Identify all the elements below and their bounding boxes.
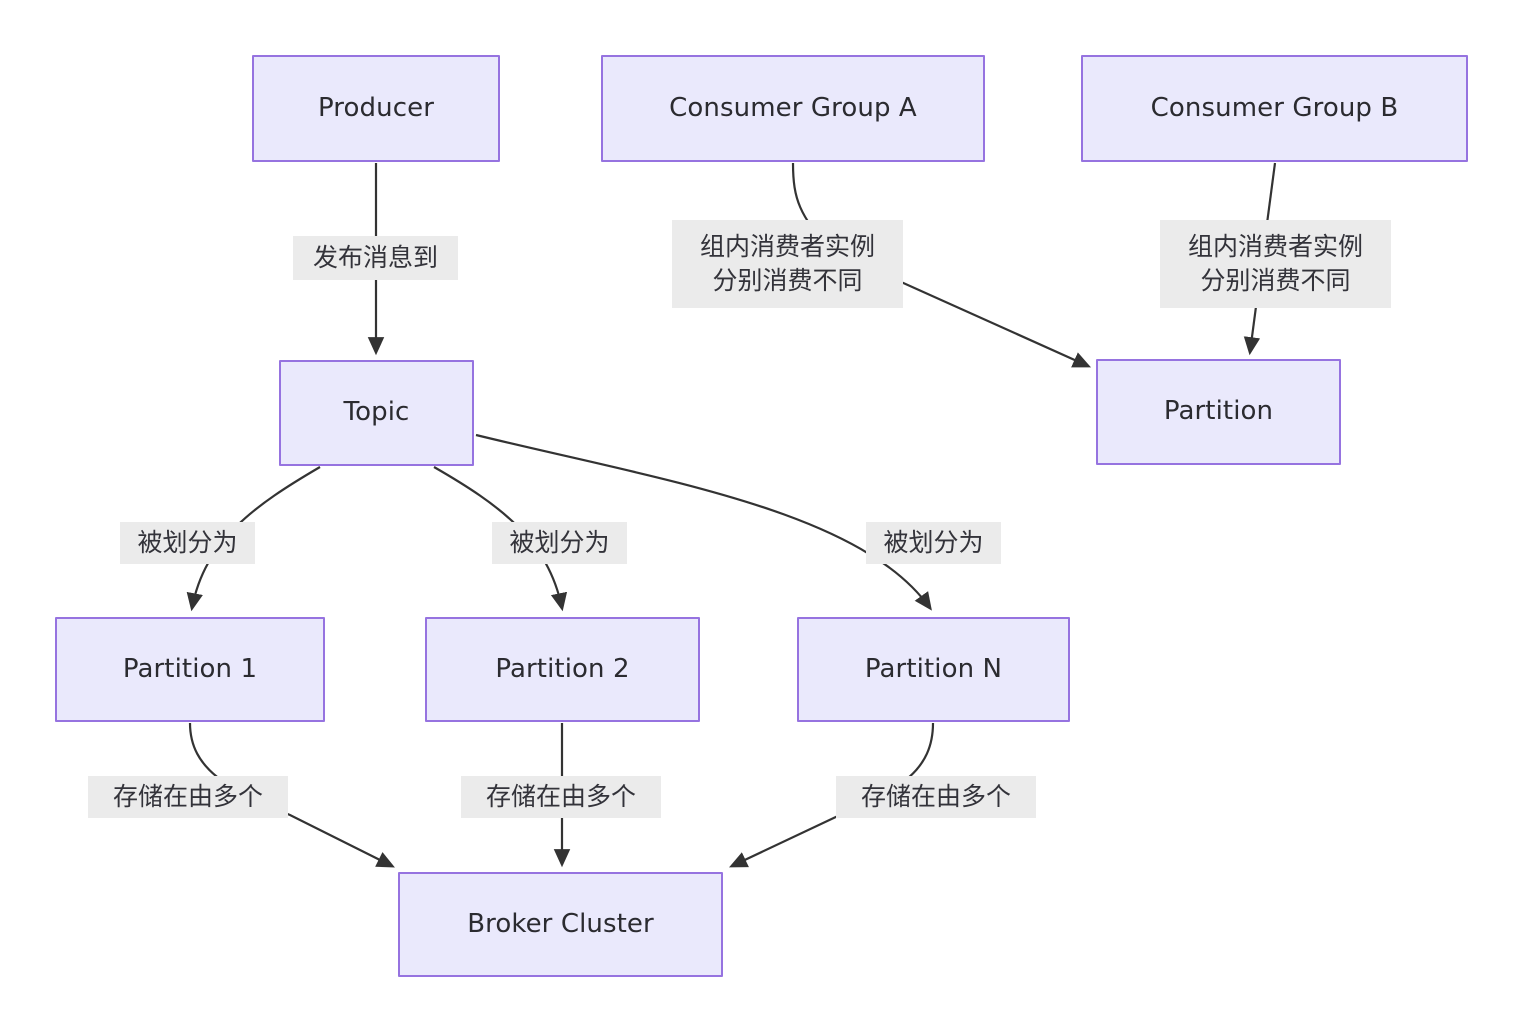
node-consumer-group-a-label: Consumer Group A (665, 93, 921, 124)
edge-label-stored-on-3-text: 存储在由多个 (861, 780, 1011, 814)
edge-label-group-a-consume-line1: 组内消费者实例 (700, 230, 875, 264)
node-consumer-group-b-label: Consumer Group B (1147, 93, 1403, 124)
node-consumer-group-b[interactable]: Consumer Group B (1081, 55, 1468, 162)
node-producer[interactable]: Producer (252, 55, 500, 162)
node-broker-cluster[interactable]: Broker Cluster (398, 872, 723, 977)
edge-label-group-b-consume: 组内消费者实例 分别消费不同 (1160, 220, 1391, 308)
node-partition-1-label: Partition 1 (119, 654, 261, 685)
flowchart-canvas: Producer Consumer Group A Consumer Group… (0, 0, 1524, 1036)
edge-label-divided-into-2: 被划分为 (492, 522, 627, 564)
node-topic[interactable]: Topic (279, 360, 474, 466)
edge-label-stored-on-1: 存储在由多个 (88, 776, 288, 818)
node-partition[interactable]: Partition (1096, 359, 1341, 465)
node-partition-1[interactable]: Partition 1 (55, 617, 325, 722)
node-partition-n[interactable]: Partition N (797, 617, 1070, 722)
edge-label-divided-into-1-text: 被划分为 (137, 526, 237, 560)
edge-label-publish-to: 发布消息到 (293, 236, 458, 280)
edge-label-stored-on-2: 存储在由多个 (461, 776, 661, 818)
node-partition-n-label: Partition N (861, 654, 1006, 685)
node-partition-2[interactable]: Partition 2 (425, 617, 700, 722)
edge-label-divided-into-2-text: 被划分为 (509, 526, 609, 560)
edge-label-publish-to-text: 发布消息到 (313, 241, 438, 275)
edge-label-group-b-consume-line1: 组内消费者实例 (1188, 230, 1363, 264)
node-consumer-group-a[interactable]: Consumer Group A (601, 55, 985, 162)
node-producer-label: Producer (314, 93, 438, 124)
edge-label-stored-on-1-text: 存储在由多个 (113, 780, 263, 814)
node-partition-2-label: Partition 2 (491, 654, 633, 685)
edge-label-divided-into-3: 被划分为 (866, 522, 1001, 564)
edge-label-group-b-consume-line2: 分别消费不同 (1200, 264, 1350, 298)
edge-label-group-a-consume: 组内消费者实例 分别消费不同 (672, 220, 903, 308)
edge-label-group-a-consume-line2: 分别消费不同 (712, 264, 862, 298)
edge-label-divided-into-3-text: 被划分为 (883, 526, 983, 560)
node-partition-label: Partition (1160, 396, 1277, 427)
edge-label-stored-on-3: 存储在由多个 (836, 776, 1036, 818)
node-broker-cluster-label: Broker Cluster (463, 909, 658, 940)
edge-label-divided-into-1: 被划分为 (120, 522, 255, 564)
node-topic-label: Topic (340, 397, 414, 428)
edge-label-stored-on-2-text: 存储在由多个 (486, 780, 636, 814)
